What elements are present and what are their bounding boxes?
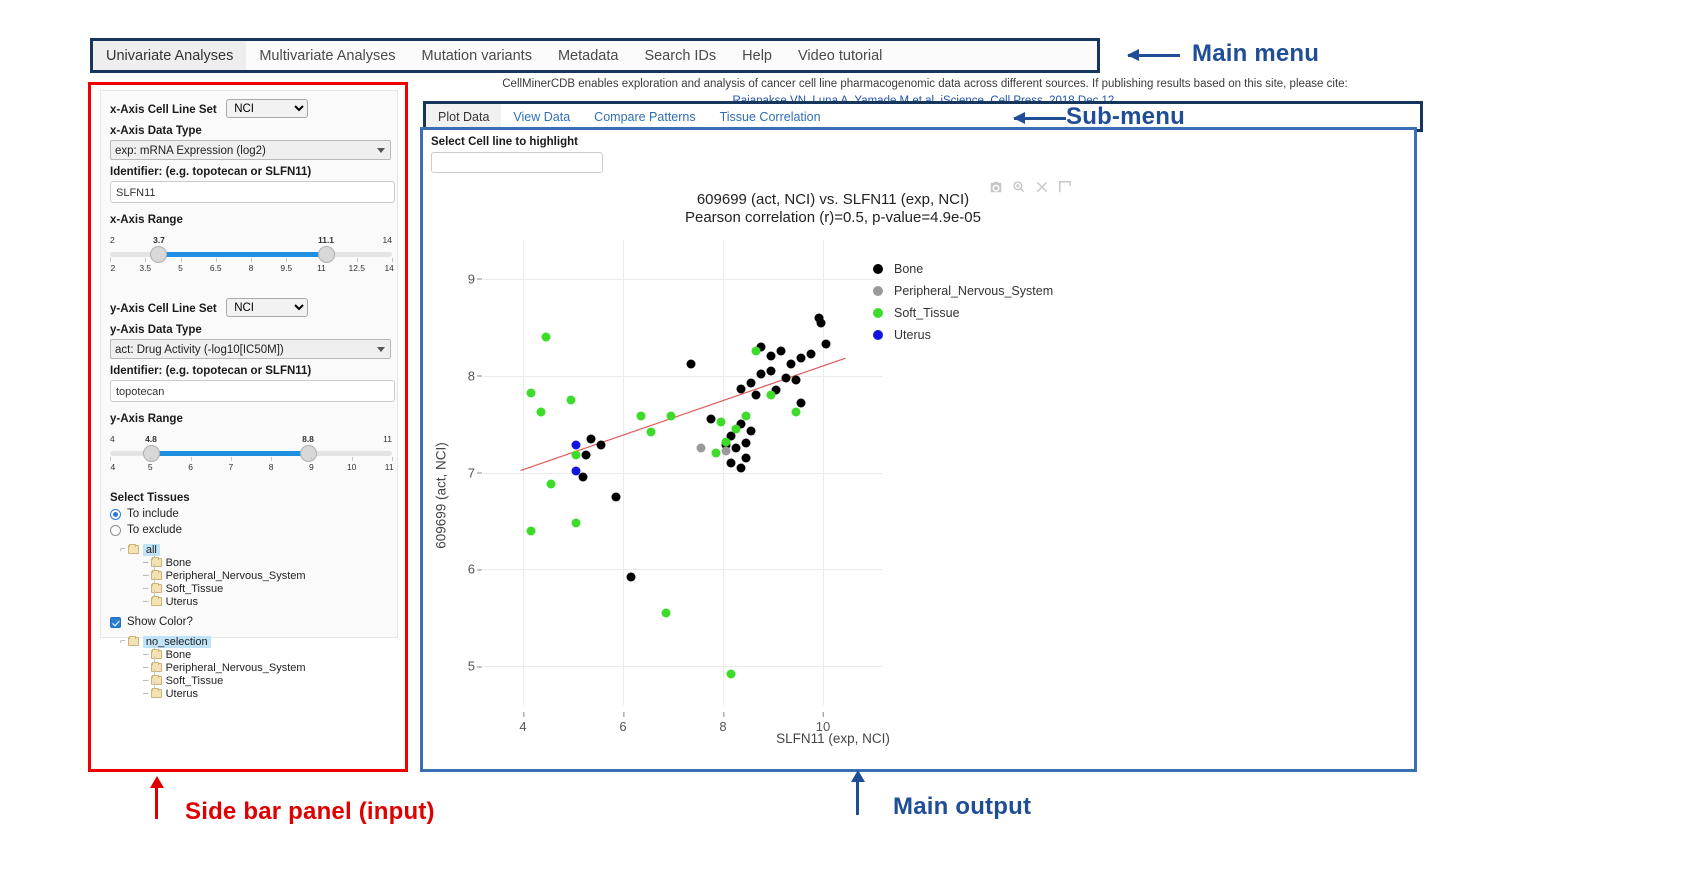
scatter-point[interactable]	[686, 360, 695, 369]
camera-icon[interactable]	[989, 180, 1003, 194]
menu-item-label: Univariate Analyses	[106, 48, 233, 64]
y-axis-range-label: y-Axis Range	[110, 413, 388, 425]
scatter-plot: 609699 (act, NCI) vs. SLFN11 (exp, NCI) …	[423, 178, 1414, 769]
x-axis-scale-tick: 6.5	[210, 263, 222, 273]
folder-icon	[151, 584, 162, 593]
scatter-point[interactable]	[751, 347, 760, 356]
plot-subtitle: Pearson correlation (r)=0.5, p-value=4.9…	[423, 209, 1243, 226]
scatter-point[interactable]	[661, 608, 670, 617]
scatter-point[interactable]	[791, 408, 800, 417]
tab-compare-patterns[interactable]: Compare Patterns	[582, 104, 707, 129]
x-axis-data-type-label: x-Axis Data Type	[110, 125, 388, 137]
legend-item-bone[interactable]: Bone	[873, 258, 1053, 280]
scatter-point[interactable]	[736, 463, 745, 472]
scatter-point[interactable]	[766, 352, 775, 361]
y-axis-range-min: 4	[110, 434, 115, 444]
tree-label-soft-tissue: Soft_Tissue	[166, 583, 224, 595]
menu-item-label: Video tutorial	[798, 48, 882, 64]
scatter-point[interactable]	[666, 412, 675, 421]
scatter-point[interactable]	[766, 391, 775, 400]
legend-label: Peripheral_Nervous_System	[894, 284, 1053, 298]
tree-label-color-soft-tissue: Soft_Tissue	[166, 675, 224, 687]
scatter-point[interactable]	[721, 447, 730, 456]
scatter-point[interactable]	[741, 412, 750, 421]
scatter-point[interactable]	[696, 444, 705, 453]
x-axis-range-max: 14	[383, 235, 392, 245]
tab-view-data[interactable]: View Data	[501, 104, 582, 129]
x-axis-tick: 6	[619, 719, 626, 734]
scatter-point[interactable]	[571, 451, 580, 460]
menu-item-label: Metadata	[558, 48, 618, 64]
y-axis-scale-tick: 7	[228, 462, 233, 472]
radio-icon-exclude	[110, 525, 121, 536]
scatter-point[interactable]	[536, 408, 545, 417]
y-axis-identifier-value: topotecan	[116, 386, 164, 398]
x-axis-scale-tick: 5	[178, 263, 183, 273]
x-axis-tick: 4	[519, 719, 526, 734]
scatter-point[interactable]	[796, 354, 805, 363]
tree-label-bone: Bone	[166, 557, 192, 569]
tree-branch-icon: –	[143, 570, 149, 581]
x-axis-scale-tick: 8	[249, 263, 254, 273]
scatter-point[interactable]	[796, 398, 805, 407]
folder-icon	[151, 676, 162, 685]
menu-item-label: Multivariate Analyses	[259, 48, 395, 64]
scatter-point[interactable]	[786, 360, 795, 369]
folder-icon	[128, 545, 139, 554]
x-axis-data-type-value: exp: mRNA Expression (log2)	[115, 145, 266, 157]
zoom-in-icon[interactable]	[1012, 180, 1026, 194]
x-axis-cell-line-set-select[interactable]: NCI	[226, 99, 308, 118]
scatter-point[interactable]	[731, 444, 740, 453]
scatter-point[interactable]	[541, 332, 550, 341]
menu-item-search-ids[interactable]: Search IDs	[631, 41, 729, 70]
y-axis-identifier-label: Identifier: (e.g. topotecan or SLFN11)	[110, 365, 388, 377]
show-color-checkbox-row[interactable]: Show Color?	[110, 616, 388, 628]
plotly-modebar[interactable]	[989, 180, 1072, 194]
scatter-point[interactable]	[611, 492, 620, 501]
scatter-point[interactable]	[806, 350, 815, 359]
scatter-point[interactable]	[756, 369, 765, 378]
radio-icon-include	[110, 509, 121, 520]
chevron-down-icon	[377, 347, 385, 352]
tree-row-soft-tissue[interactable]: – Soft_Tissue	[143, 582, 388, 595]
y-axis-slider-fill	[150, 451, 307, 456]
legend-item-soft-tissue[interactable]: Soft_Tissue	[873, 302, 1053, 324]
show-color-label: Show Color?	[127, 616, 193, 628]
main-output-panel: Select Cell line to highlight 609699 (ac…	[420, 127, 1417, 772]
plot-title: 609699 (act, NCI) vs. SLFN11 (exp, NCI)	[423, 190, 1243, 209]
scatter-point[interactable]	[636, 412, 645, 421]
y-axis-data-type-select[interactable]: act: Drug Activity (-log10[IC50M])	[110, 339, 391, 359]
legend-color-swatch	[873, 308, 883, 318]
legend-label: Bone	[894, 262, 923, 276]
scatter-point[interactable]	[721, 437, 730, 446]
scatter-point[interactable]	[736, 385, 745, 394]
y-axis-slider-low-value: 4.8	[145, 434, 157, 444]
menu-item-label: Mutation variants	[422, 48, 532, 64]
radio-to-exclude[interactable]: To exclude	[110, 524, 388, 536]
radio-label-include: To include	[127, 508, 179, 520]
main-menu-frame: Univariate Analyses Multivariate Analyse…	[90, 38, 1100, 73]
x-axis-scale-tick: 9.5	[280, 263, 292, 273]
tree-row-color-root[interactable]: ⌐ no_selection	[120, 635, 388, 648]
legend-color-swatch	[873, 264, 883, 274]
scatter-point[interactable]	[711, 449, 720, 458]
x-axis-slider-high-value: 11.1	[318, 235, 334, 245]
select-tissues-title: Select Tissues	[110, 492, 388, 504]
tissue-tree-color: ⌐ no_selection – Bone – Peripheral_Nervo…	[120, 635, 388, 700]
y-axis-cell-line-set-label: y-Axis Cell Line Set	[110, 303, 217, 315]
main-menu-bar: Univariate Analyses Multivariate Analyse…	[93, 41, 1097, 70]
y-axis-range-max: 11	[383, 434, 392, 444]
menu-item-metadata[interactable]: Metadata	[545, 41, 631, 70]
radio-to-include[interactable]: To include	[110, 508, 388, 520]
x-axis-identifier-label: Identifier: (e.g. topotecan or SLFN11)	[110, 166, 388, 178]
x-axis-range-label: x-Axis Range	[110, 214, 388, 226]
scatter-point[interactable]	[571, 518, 580, 527]
menu-item-video-tutorial[interactable]: Video tutorial	[785, 41, 895, 70]
x-axis-range-min: 2	[110, 235, 115, 245]
subtab-label: Plot Data	[438, 110, 489, 124]
x-axis-slider-fill	[157, 252, 326, 257]
tree-branch-icon: –	[143, 649, 149, 660]
x-axis-label: SLFN11 (exp, NCI)	[423, 731, 1243, 746]
annotation-label-main-menu: Main menu	[1192, 40, 1319, 68]
scatter-point[interactable]	[571, 441, 580, 450]
y-axis-identifier-input[interactable]: topotecan	[110, 380, 395, 402]
y-axis-data-type-value: act: Drug Activity (-log10[IC50M])	[115, 344, 284, 356]
folder-icon	[151, 597, 162, 606]
radio-label-exclude: To exclude	[127, 524, 182, 536]
scatter-point[interactable]	[579, 473, 588, 482]
tree-label-color-bone: Bone	[166, 649, 192, 661]
x-axis-scale-tick: 14	[384, 263, 393, 273]
scatter-point[interactable]	[726, 670, 735, 679]
subtab-label: Tissue Correlation	[720, 110, 821, 124]
scatter-point[interactable]	[791, 376, 800, 385]
scatter-point[interactable]	[731, 424, 740, 433]
scatter-point[interactable]	[746, 426, 755, 435]
folder-icon	[128, 637, 139, 646]
tree-expander-icon[interactable]: ⌐	[120, 636, 126, 647]
scatter-point[interactable]	[581, 451, 590, 460]
y-axis-scale-tick: 9	[309, 462, 314, 472]
tree-expander-icon[interactable]: ⌐	[120, 544, 126, 555]
scatter-point[interactable]	[741, 453, 750, 462]
x-axis-slider-scale: 2 3.5 5 6.5 8 9.5 11 12.5 14	[110, 263, 392, 275]
y-axis-scale-tick: 5	[148, 462, 153, 472]
highlight-cellline-label: Select Cell line to highlight	[431, 136, 578, 148]
x-axis-cell-line-set-label: x-Axis Cell Line Set	[110, 104, 217, 116]
x-axis-identifier-input[interactable]: SLFN11	[110, 181, 395, 203]
tree-label-no-selection: no_selection	[143, 636, 211, 648]
tree-label-color-uterus: Uterus	[166, 688, 198, 700]
tree-branch-icon: –	[143, 675, 149, 686]
y-axis-cell-line-set-select[interactable]: NCI	[226, 298, 308, 317]
tree-row-color-soft-tissue[interactable]: – Soft_Tissue	[143, 674, 388, 687]
annotation-arrow-submenu	[1014, 117, 1066, 120]
annotation-label-sidebar: Side bar panel (input)	[185, 798, 435, 826]
tree-label-uterus: Uterus	[166, 596, 198, 608]
scatter-point[interactable]	[646, 427, 655, 436]
menu-item-multivariate-analyses[interactable]: Multivariate Analyses	[246, 41, 408, 70]
tree-row-color-bone[interactable]: – Bone	[143, 648, 388, 661]
y-axis-scale-tick: 6	[188, 462, 193, 472]
y-axis-scale-tick: 10	[347, 462, 356, 472]
menu-item-univariate-analyses[interactable]: Univariate Analyses	[93, 41, 246, 70]
chevron-down-icon	[377, 148, 385, 153]
y-axis-tick: 8	[435, 368, 475, 383]
scatter-point[interactable]	[586, 434, 595, 443]
pan-crosshair-icon[interactable]	[1035, 180, 1049, 194]
scatter-point[interactable]	[546, 480, 555, 489]
sidebar-inner: x-Axis Cell Line Set NCI x-Axis Data Typ…	[100, 90, 398, 638]
scatter-point[interactable]	[741, 439, 750, 448]
scatter-point[interactable]	[746, 379, 755, 388]
y-axis-scale-tick: 11	[385, 462, 394, 472]
tab-plot-data[interactable]: Plot Data	[426, 104, 501, 129]
checkbox-icon-show-color	[110, 617, 121, 628]
legend-color-swatch	[873, 286, 883, 296]
tree-label-color-peripheral-nervous-system: Peripheral_Nervous_System	[166, 662, 306, 674]
plot-canvas: 4681056789	[483, 240, 883, 705]
tree-branch-icon: –	[143, 583, 149, 594]
y-axis-cell-line-set-row: y-Axis Cell Line Set NCI	[110, 297, 388, 318]
annotation-arrow-sidebar	[155, 787, 158, 819]
scatter-point[interactable]	[526, 389, 535, 398]
sidebar-panel: x-Axis Cell Line Set NCI x-Axis Data Typ…	[88, 82, 408, 772]
autoscale-icon[interactable]	[1058, 180, 1072, 194]
legend-item-uterus[interactable]: Uterus	[873, 324, 1053, 346]
tree-row-peripheral-nervous-system[interactable]: – Peripheral_Nervous_System	[143, 569, 388, 582]
y-axis-tick: 6	[435, 562, 475, 577]
tree-branch-icon: –	[143, 557, 149, 568]
legend-label: Uterus	[894, 328, 931, 342]
annotation-arrow-main-menu	[1128, 54, 1180, 57]
highlight-cellline-input[interactable]	[431, 152, 603, 173]
plot-legend: Bone Peripheral_Nervous_System Soft_Tiss…	[873, 258, 1053, 346]
x-axis-range-slider[interactable]: 2 14 3.7 11.1 2 3.5 5 6.5 8 9.5 11 12.5 …	[110, 235, 392, 275]
tree-row-bone[interactable]: – Bone	[143, 556, 388, 569]
x-axis-tick: 10	[816, 719, 830, 734]
x-axis-cell-line-set-row: x-Axis Cell Line Set NCI	[110, 98, 388, 119]
legend-item-peripheral-nervous-system[interactable]: Peripheral_Nervous_System	[873, 280, 1053, 302]
trend-line	[483, 240, 883, 705]
scatter-point[interactable]	[726, 458, 735, 467]
x-axis-data-type-select[interactable]: exp: mRNA Expression (log2)	[110, 140, 391, 160]
menu-item-label: Search IDs	[644, 48, 716, 64]
y-axis-slider-scale: 4 5 6 7 8 9 10 11	[110, 462, 392, 474]
tissue-tree-include: ⌐ all – Bone – Peripheral_Nervous_System…	[120, 543, 388, 608]
y-axis-scale-tick: 8	[269, 462, 274, 472]
x-axis-tick: 8	[719, 719, 726, 734]
subtab-label: View Data	[513, 110, 570, 124]
x-axis-slider-low-value: 3.7	[153, 235, 165, 245]
scatter-point[interactable]	[526, 526, 535, 535]
scatter-point[interactable]	[751, 391, 760, 400]
y-axis-slider-high-value: 8.8	[302, 434, 314, 444]
x-axis-scale-tick: 11	[317, 263, 326, 273]
scatter-point[interactable]	[815, 313, 824, 322]
tree-row-color-peripheral-nervous-system[interactable]: – Peripheral_Nervous_System	[143, 661, 388, 674]
tab-tissue-correlation[interactable]: Tissue Correlation	[708, 104, 833, 129]
scatter-point[interactable]	[626, 573, 635, 582]
folder-icon	[151, 663, 162, 672]
tree-branch-icon: –	[143, 596, 149, 607]
scatter-point[interactable]	[706, 415, 715, 424]
y-axis-tick: 5	[435, 659, 475, 674]
annotation-label-main-output: Main output	[893, 793, 1031, 821]
scatter-point[interactable]	[716, 418, 725, 427]
scatter-point[interactable]	[781, 373, 790, 382]
x-axis-scale-tick: 12.5	[348, 263, 365, 273]
folder-icon	[151, 571, 162, 580]
tree-branch-icon: –	[143, 688, 149, 699]
y-axis-range-slider[interactable]: 4 11 4.8 8.8 4 5 6 7 8 9 10 11	[110, 434, 392, 474]
legend-label: Soft_Tissue	[894, 306, 960, 320]
annotation-arrow-main-output	[856, 781, 859, 815]
menu-item-label: Help	[742, 48, 772, 64]
tree-row-color-uterus[interactable]: – Uterus	[143, 687, 388, 700]
folder-icon	[151, 650, 162, 659]
folder-icon	[151, 689, 162, 698]
tree-label-peripheral-nervous-system: Peripheral_Nervous_System	[166, 570, 306, 582]
scatter-point[interactable]	[766, 366, 775, 375]
scatter-point[interactable]	[566, 395, 575, 404]
x-axis-scale-tick: 3.5	[139, 263, 151, 273]
menu-item-mutation-variants[interactable]: Mutation variants	[409, 41, 545, 70]
subtab-label: Compare Patterns	[594, 110, 695, 124]
y-axis-tick: 7	[435, 465, 475, 480]
x-axis-scale-tick: 2	[110, 263, 115, 273]
tree-row-root[interactable]: ⌐ all	[120, 543, 388, 556]
y-axis-tick: 9	[435, 271, 475, 286]
scatter-point[interactable]	[596, 441, 605, 450]
x-axis-identifier-value: SLFN11	[116, 187, 156, 199]
scatter-point[interactable]	[571, 466, 580, 475]
folder-icon	[151, 558, 162, 567]
legend-color-swatch	[873, 330, 883, 340]
menu-item-help[interactable]: Help	[729, 41, 785, 70]
tree-branch-icon: –	[143, 662, 149, 673]
tree-label-all: all	[143, 544, 160, 556]
submenu-bar: Plot Data View Data Compare Patterns Tis…	[426, 104, 1420, 129]
citation-line-1: CellMinerCDB enables exploration and ana…	[430, 76, 1420, 93]
scatter-point[interactable]	[776, 347, 785, 356]
tree-row-uterus[interactable]: – Uterus	[143, 595, 388, 608]
y-axis-data-type-label: y-Axis Data Type	[110, 324, 388, 336]
y-axis-scale-tick: 4	[110, 462, 115, 472]
scatter-point[interactable]	[821, 339, 830, 348]
